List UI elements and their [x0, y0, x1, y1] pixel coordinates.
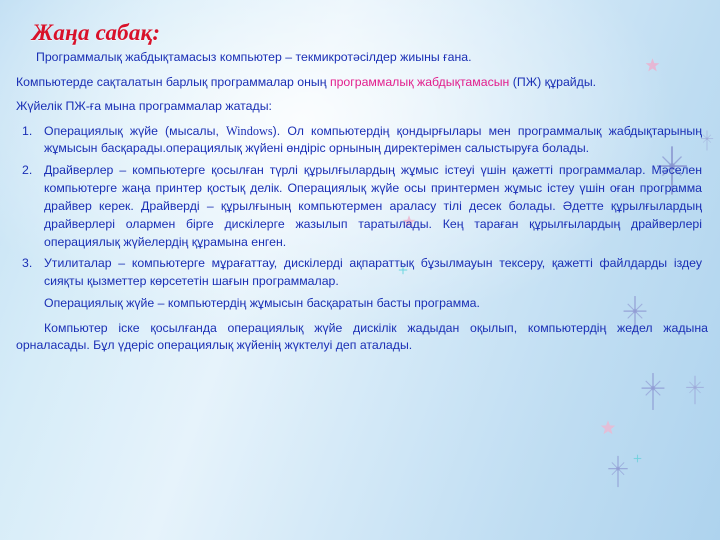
- software-types-list: 1.Операциялық жүйе (мысалы, Windows). Ол…: [14, 123, 710, 291]
- intro-paragraph: Программалық жабдықтамасыз компьютер – т…: [36, 49, 680, 66]
- list-item: 2.Драйверлер – компьютерге қосылған түрл…: [14, 162, 702, 251]
- list-item-text-a: Операциялық жүйе (мысалы,: [44, 124, 226, 138]
- list-item-text-a: Утилиталар – компьютерге мұрағаттау, дис…: [44, 256, 702, 288]
- software-definition-paragraph: Компьютерде сақталатын барлық программал…: [16, 74, 702, 91]
- list-item-text-a: Драйверлер – компьютерге қосылған түрлі …: [44, 163, 702, 248]
- list-item-number: 1.: [22, 123, 42, 141]
- software-definition-part-a: Компьютерде сақталатын барлық программал…: [16, 75, 330, 89]
- list-item: 1.Операциялық жүйе (мысалы, Windows). Ол…: [14, 123, 702, 159]
- list-item-number: 2.: [22, 162, 42, 180]
- system-software-lead: Жүйелік ПЖ-ға мына программалар жатады:: [16, 98, 702, 115]
- closing-paragraphs: Операциялық жүйе – компьютердің жұмысын …: [14, 295, 710, 354]
- list-item-text-serif: Windows: [226, 124, 273, 138]
- boot-paragraph: Компьютер іске қосылғанда операциялық жү…: [16, 320, 708, 355]
- software-definition-highlight: программалық жабдықтамасын: [330, 75, 509, 89]
- os-definition-paragraph: Операциялық жүйе – компьютердің жұмысын …: [44, 295, 680, 312]
- list-item: 3.Утилиталар – компьютерге мұрағаттау, д…: [14, 255, 702, 291]
- list-item-number: 3.: [22, 255, 42, 273]
- slide-content: Жаңа сабақ: Программалық жабдықтамасыз к…: [0, 0, 720, 540]
- page-title: Жаңа сабақ:: [32, 20, 710, 45]
- presentation-slide: Жаңа сабақ: Программалық жабдықтамасыз к…: [0, 0, 720, 540]
- software-definition-part-b: (ПЖ) құрайды.: [509, 75, 596, 89]
